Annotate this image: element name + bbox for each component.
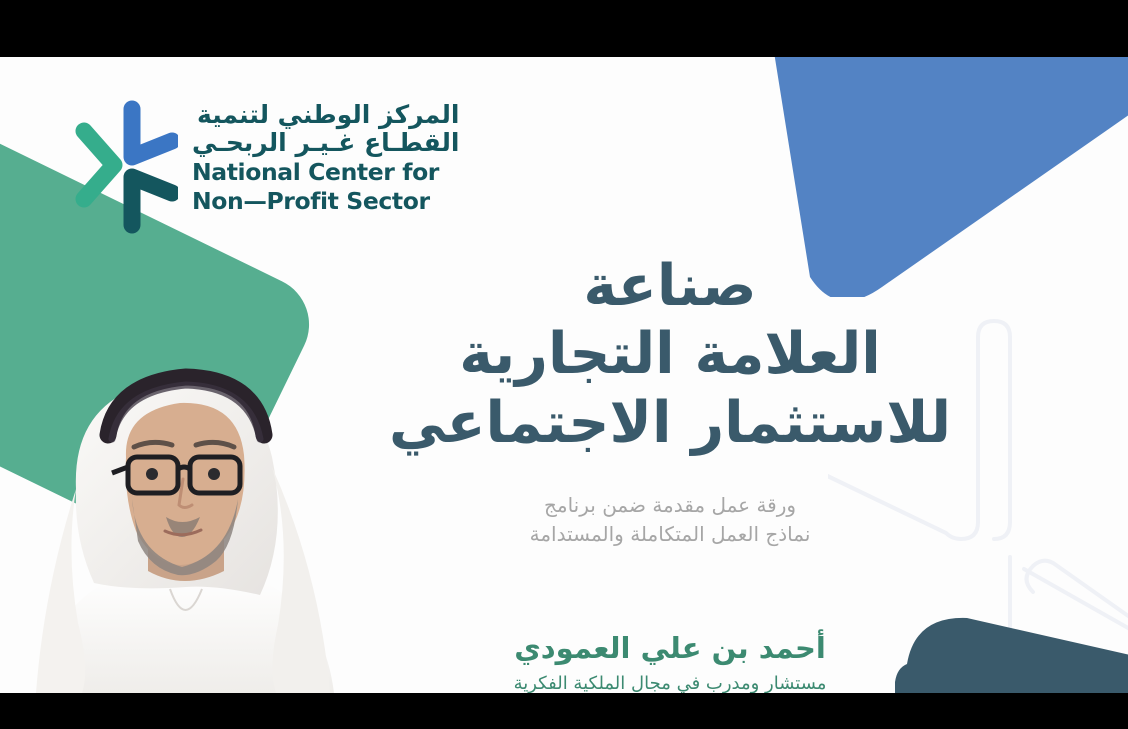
speaker-block: أحمد بن علي العمودي مستشار ومدرب في مجال… [360, 631, 980, 693]
logo-arabic-line-1: المركز الوطني لتنمية [192, 101, 459, 129]
title-line-2: العلامة التجارية [360, 320, 980, 388]
logo-mark-icon [74, 97, 178, 237]
logo-arabic-line-2: القطـاع غـيـر الربحـي [192, 129, 459, 157]
slide-subtitle: ورقة عمل مقدمة ضمن برنامج نماذج العمل ال… [360, 491, 980, 549]
speaker-name: أحمد بن علي العمودي [360, 631, 980, 666]
slide-content: صناعة العلامة التجارية للاستثمار الاجتما… [360, 252, 980, 693]
logo-text-block: المركز الوطني لتنمية القطـاع غـيـر الربح… [192, 97, 459, 216]
title-line-3: للاستثمار الاجتماعي [360, 389, 980, 457]
portrait-image [20, 339, 350, 693]
letterbox-bottom [0, 693, 1128, 729]
speaker-portrait [20, 339, 350, 693]
title-line-1: صناعة [360, 252, 980, 320]
speaker-role: مستشار ومدرب في مجال الملكية الفكرية [360, 672, 980, 693]
subtitle-line-1: ورقة عمل مقدمة ضمن برنامج [360, 491, 980, 520]
organization-logo: المركز الوطني لتنمية القطـاع غـيـر الربح… [74, 97, 459, 237]
logo-english-line-2: Non—Profit Sector [192, 188, 459, 215]
logo-english-line-1: National Center for [192, 159, 459, 186]
slide-screen: المركز الوطني لتنمية القطـاع غـيـر الربح… [0, 0, 1128, 729]
subtitle-line-2: نماذج العمل المتكاملة والمستدامة [360, 520, 980, 549]
slide-canvas: المركز الوطني لتنمية القطـاع غـيـر الربح… [0, 57, 1128, 693]
letterbox-top [0, 0, 1128, 57]
page-title: صناعة العلامة التجارية للاستثمار الاجتما… [360, 252, 980, 457]
